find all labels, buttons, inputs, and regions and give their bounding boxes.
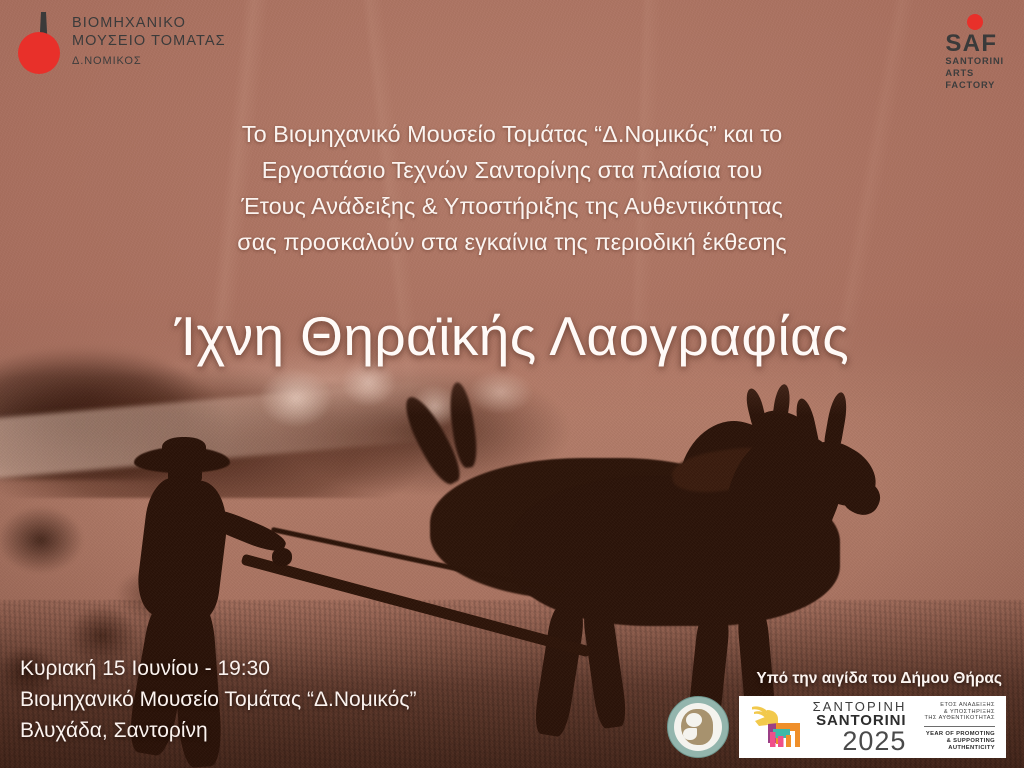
tagline-divider [924, 726, 995, 727]
invitation-text: Το Βιομηχανικό Μουσείο Τομάτας “Δ.Νομικό… [0, 116, 1024, 260]
santorini-goat-icon [748, 704, 804, 750]
museum-logo-line-3: Δ.ΝΟΜΙΚΟΣ [72, 53, 226, 69]
poster-canvas: ΒΙΟΜΗΧΑΝΙΚΟ ΜΟΥΣΕΙΟ ΤΟΜΑΤΑΣ Δ.ΝΟΜΙΚΟΣ SA… [0, 0, 1024, 768]
saf-line-2: ARTS [945, 68, 1004, 80]
event-datetime: Κυριακή 15 Ιουνίου - 19:30 [20, 653, 416, 684]
invitation-line-4: σας προσκαλούν στα εγκαίνια της περιοδικ… [0, 224, 1024, 260]
santorini-2025-wordmark: ΣΑΝΤΟΡΙΝΗ SANTORINI 2025 [813, 700, 907, 755]
tagline-en-line-1: YEAR OF PROMOTING [924, 731, 995, 738]
seal-figure-highlight-2 [683, 728, 696, 740]
saf-line-1: SANTORINI [945, 56, 1004, 68]
seal-inner-disc [674, 703, 722, 751]
museum-logo-line-1: ΒΙΟΜΗΧΑΝΙΚΟ [72, 14, 226, 32]
tagline-gr-line-2: & ΥΠΟΣΤΗΡΙΞΗΣ [924, 709, 995, 716]
aegis-text: Υπό την αιγίδα του Δήμου Θήρας [667, 669, 1006, 689]
red-dot-icon [967, 14, 983, 30]
factory-chimney-icon [18, 12, 60, 74]
ploughman-torso [134, 475, 232, 624]
santorini-name-greek: ΣΑΝΤΟΡΙΝΗ [813, 700, 907, 713]
tagline-gr-line-1: ΕΤΟΣ ΑΝΑΔΕΙΞΗΣ [924, 702, 995, 709]
saf-acronym: SAF [945, 31, 1004, 56]
event-details: Κυριακή 15 Ιουνίου - 19:30 Βιομηχανικό Μ… [20, 653, 416, 746]
museum-logo-wordmark: ΒΙΟΜΗΧΑΝΙΚΟ ΜΟΥΣΕΙΟ ΤΟΜΑΤΑΣ Δ.ΝΟΜΙΚΟΣ [72, 12, 226, 69]
invitation-line-3: Έτους Ανάδειξης & Υποστήριξης της Αυθεντ… [0, 188, 1024, 224]
santorini-year: 2025 [813, 728, 907, 755]
invitation-line-1: Το Βιομηχανικό Μουσείο Τομάτας “Δ.Νομικό… [0, 116, 1024, 152]
event-venue: Βιομηχανικό Μουσείο Τομάτας “Δ.Νομικός” [20, 684, 416, 715]
museum-logo: ΒΙΟΜΗΧΑΝΙΚΟ ΜΟΥΣΕΙΟ ΤΟΜΑΤΑΣ Δ.ΝΟΜΙΚΟΣ [18, 12, 226, 74]
saf-line-3: FACTORY [945, 80, 1004, 92]
exhibition-title: Ίχνη Θηραϊκής Λαογραφίας [0, 304, 1024, 368]
santorini-2025-logo: ΣΑΝΤΟΡΙΝΗ SANTORINI 2025 ΕΤΟΣ ΑΝΑΔΕΙΞΗΣ … [739, 696, 1006, 758]
municipality-of-thira-seal-icon [667, 696, 729, 758]
invitation-line-2: Εργοστάσιο Τεχνών Σαντορίνης στα πλαίσια… [0, 152, 1024, 188]
sponsors-block: Υπό την αιγίδα του Δήμου Θήρας [667, 669, 1006, 758]
ploughman-hand [272, 548, 292, 566]
tagline-gr-line-3: ΤΗΣ ΑΥΘΕΝΤΙΚΟΤΗΤΑΣ [924, 715, 995, 722]
tagline-en-line-2: & SUPPORTING [924, 738, 995, 745]
front-mule-leg-1 [532, 606, 586, 738]
santorini-2025-tagline: ΕΤΟΣ ΑΝΑΔΕΙΞΗΣ & ΥΠΟΣΤΗΡΙΞΗΣ ΤΗΣ ΑΥΘΕΝΤΙ… [915, 702, 995, 752]
event-location: Βλυχάδα, Σαντορίνη [20, 715, 416, 746]
museum-logo-line-2: ΜΟΥΣΕΙΟ ΤΟΜΑΤΑΣ [72, 32, 226, 50]
tagline-en-line-3: AUTHENTICITY [924, 745, 995, 752]
red-circle-shape [18, 32, 60, 74]
sponsor-logo-row: ΣΑΝΤΟΡΙΝΗ SANTORINI 2025 ΕΤΟΣ ΑΝΑΔΕΙΞΗΣ … [667, 696, 1006, 758]
saf-logo: SAF SANTORINI ARTS FACTORY [945, 14, 1004, 91]
